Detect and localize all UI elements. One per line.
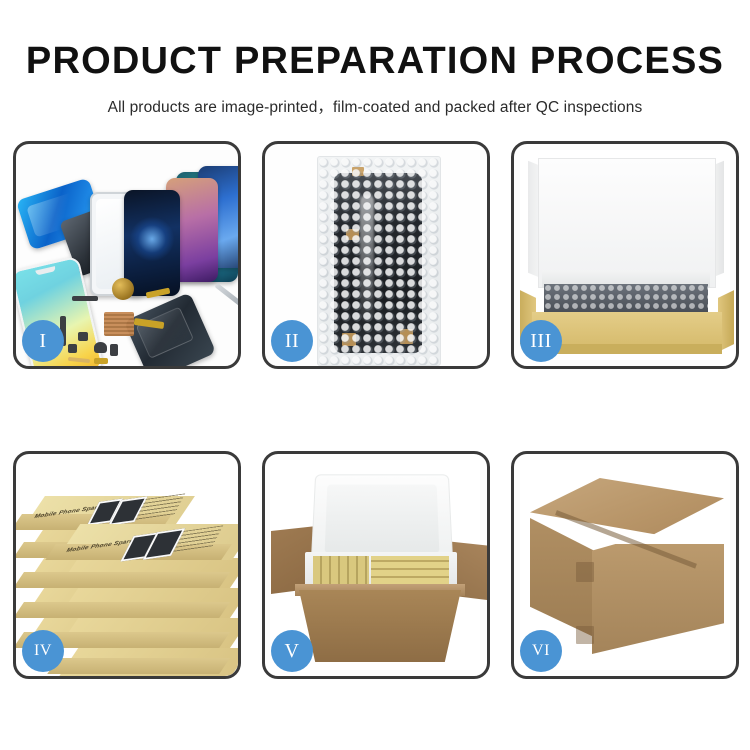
infographic-page: PRODUCT PREPARATION PROCESS All products…	[0, 0, 750, 750]
step-panel-4[interactable]: Mobile Phone Spare Parts Mobile Phone Sp…	[13, 451, 241, 679]
carton-tape-tab-upper	[576, 562, 594, 582]
carton-tape-tab-lower	[576, 626, 594, 644]
foam-box-lid	[311, 474, 454, 564]
step-badge-4: IV	[22, 630, 64, 672]
carton-body	[299, 590, 461, 662]
shield-plate-component	[104, 312, 134, 336]
part-chip-1	[72, 296, 98, 301]
step-badge-2: II	[271, 320, 313, 362]
step-panel-1[interactable]: I	[13, 141, 241, 369]
phone-display-dark	[124, 190, 180, 296]
stacked-box-r1	[58, 558, 230, 588]
part-chip-4	[68, 344, 77, 353]
part-chip-3	[94, 342, 107, 353]
phone-housing-midframe	[124, 292, 217, 366]
part-chip-5	[110, 344, 118, 356]
header: PRODUCT PREPARATION PROCESS All products…	[0, 0, 750, 117]
bubble-wrap-bag	[317, 156, 441, 366]
speaker-component-icon	[112, 278, 134, 300]
step-badge-1: I	[22, 320, 64, 362]
step-panel-2[interactable]: II	[262, 141, 490, 369]
step-panel-3[interactable]: III	[511, 141, 739, 369]
step-panel-5[interactable]: V	[262, 451, 490, 679]
step-panel-6[interactable]: VI	[511, 451, 739, 679]
page-subtitle: All products are image-printed，film-coat…	[0, 82, 750, 117]
packed-bubble-wrapped-units	[544, 284, 708, 314]
stacked-box-r4	[58, 648, 230, 674]
tweezers-icon	[214, 283, 238, 310]
bubble-texture	[318, 157, 440, 365]
step-badge-6: VI	[520, 630, 562, 672]
sealed-carton	[530, 478, 724, 654]
carton-front-face	[592, 544, 724, 654]
stacked-box-r3	[58, 618, 230, 648]
page-title: PRODUCT PREPARATION PROCESS	[0, 0, 750, 82]
step-badge-5: V	[271, 630, 313, 672]
stacked-box-r2	[58, 588, 230, 618]
step-badge-3: III	[520, 320, 562, 362]
part-chip-2	[78, 332, 88, 341]
box-white-lid	[538, 158, 716, 288]
process-steps-grid: I II	[13, 141, 737, 679]
part-gold-flex-3	[94, 358, 108, 364]
